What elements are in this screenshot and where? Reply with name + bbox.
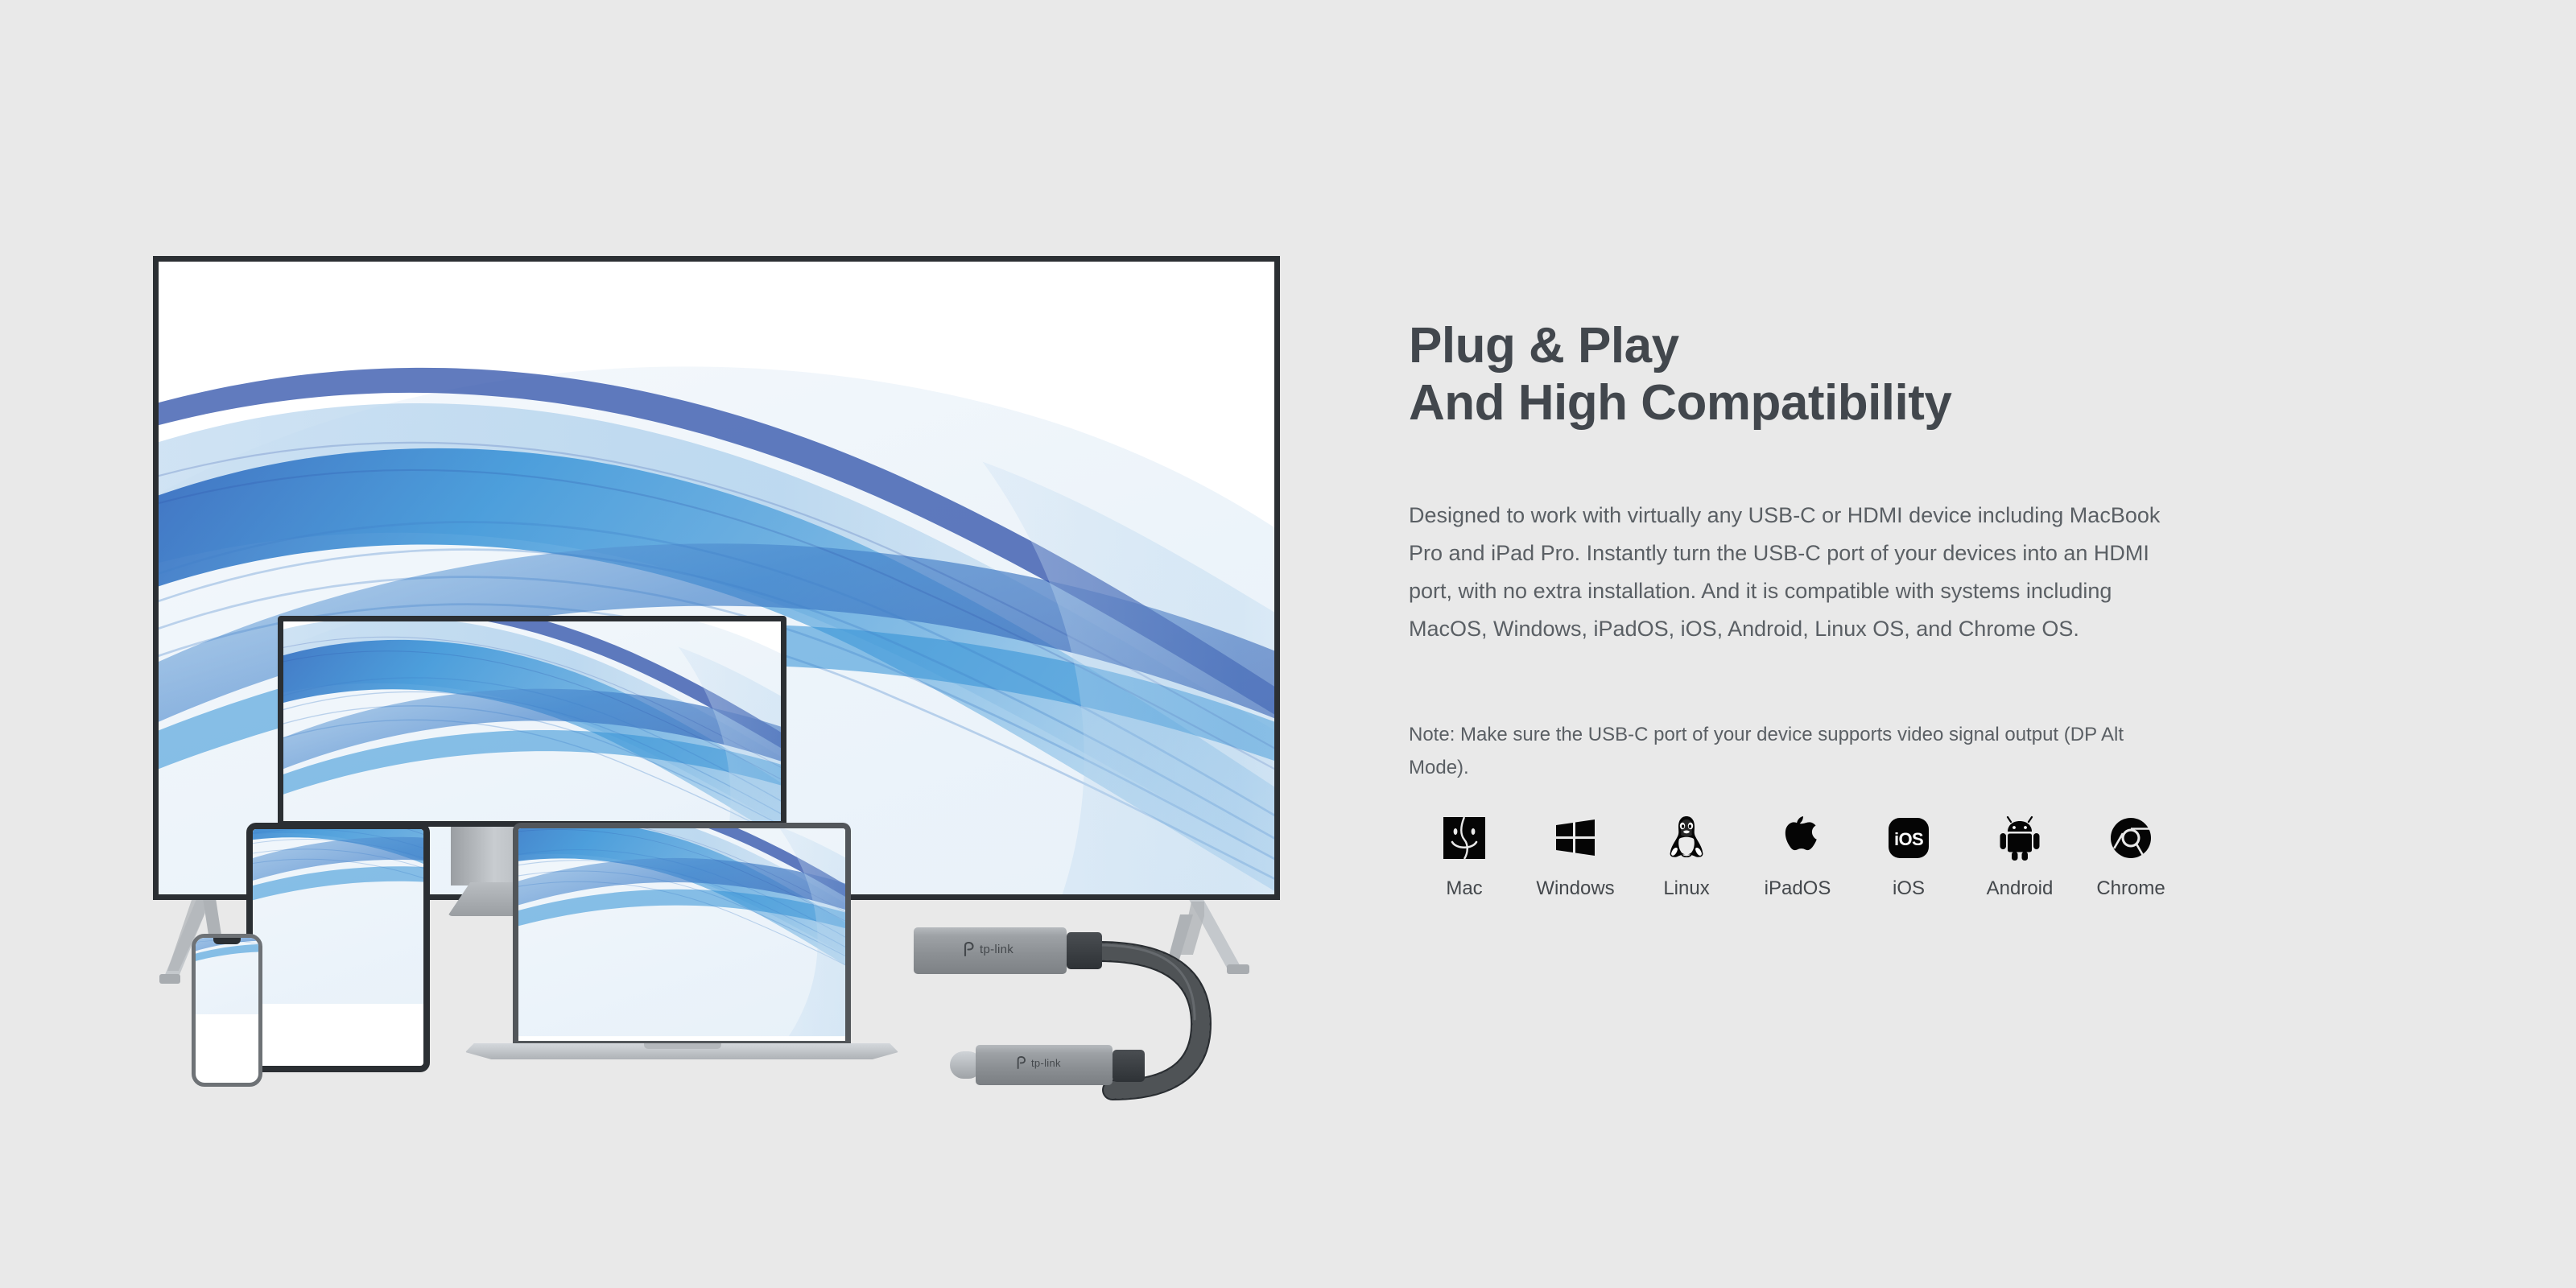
laptop-screen-wallpaper xyxy=(518,828,845,1041)
ios-icon: iOS xyxy=(1886,805,1931,871)
feature-note: Note: Make sure the USB-C port of your d… xyxy=(1409,718,2149,785)
feature-description: Designed to work with virtually any USB-… xyxy=(1409,497,2182,648)
chrome-icon xyxy=(2109,805,2153,871)
tp-link-logo-plug: tp-link xyxy=(1016,1056,1061,1069)
feature-copy-column: Plug & Play And High Compatibility Desig… xyxy=(1409,0,2455,1288)
compat-item-linux: Linux xyxy=(1631,805,1742,898)
compat-item-ipados: iPadOS xyxy=(1742,805,1853,898)
headline-line-1: Plug & Play xyxy=(1409,317,2375,375)
page-title: Plug & Play And High Compatibility xyxy=(1409,317,2375,433)
desktop-monitor xyxy=(278,616,786,827)
laptop xyxy=(513,823,851,1046)
laptop-trackpad-notch xyxy=(644,1043,721,1049)
phone-screen-wallpaper xyxy=(196,938,258,1083)
compat-item-android: Android xyxy=(1964,805,2075,898)
smartphone xyxy=(192,934,262,1087)
android-icon xyxy=(1998,805,2041,871)
compat-item-chrome: Chrome xyxy=(2075,805,2186,898)
apple-icon xyxy=(1778,805,1817,871)
mac-finder-icon xyxy=(1442,805,1487,871)
compat-label-windows: Windows xyxy=(1536,879,1614,898)
svg-text:iOS: iOS xyxy=(1894,829,1923,849)
product-feature-section: tp-link tp-link Plug & Play And High Com… xyxy=(0,0,2576,1288)
compat-label-chrome: Chrome xyxy=(2096,879,2165,898)
windows-icon xyxy=(1553,805,1598,871)
tp-link-logo-adapter: tp-link xyxy=(963,942,1013,956)
compat-item-mac: Mac xyxy=(1409,805,1520,898)
compat-item-windows: Windows xyxy=(1520,805,1631,898)
tablet-screen-wallpaper xyxy=(253,829,423,1066)
compat-label-mac: Mac xyxy=(1446,879,1482,898)
compat-label-android: Android xyxy=(1987,879,2054,898)
compatibility-icon-row: Mac Windows xyxy=(1409,805,2186,898)
compat-label-ipados: iPadOS xyxy=(1765,879,1831,898)
plug-cable-collar xyxy=(1113,1050,1145,1082)
monitor-screen-wallpaper xyxy=(283,621,781,821)
compat-label-ios: iOS xyxy=(1893,879,1925,898)
tp-link-wordmark: tp-link xyxy=(980,943,1013,956)
product-scene: tp-link tp-link xyxy=(0,0,1368,1288)
compat-item-ios: iOS iOS xyxy=(1853,805,1964,898)
phone-notch xyxy=(213,938,241,944)
headline-line-2: And High Compatibility xyxy=(1409,374,2375,432)
linux-penguin-icon xyxy=(1666,805,1707,871)
adapter-cable-collar xyxy=(1067,932,1102,969)
compat-label-linux: Linux xyxy=(1663,879,1709,898)
tp-link-wordmark-plug: tp-link xyxy=(1031,1057,1061,1069)
tablet xyxy=(246,823,430,1072)
